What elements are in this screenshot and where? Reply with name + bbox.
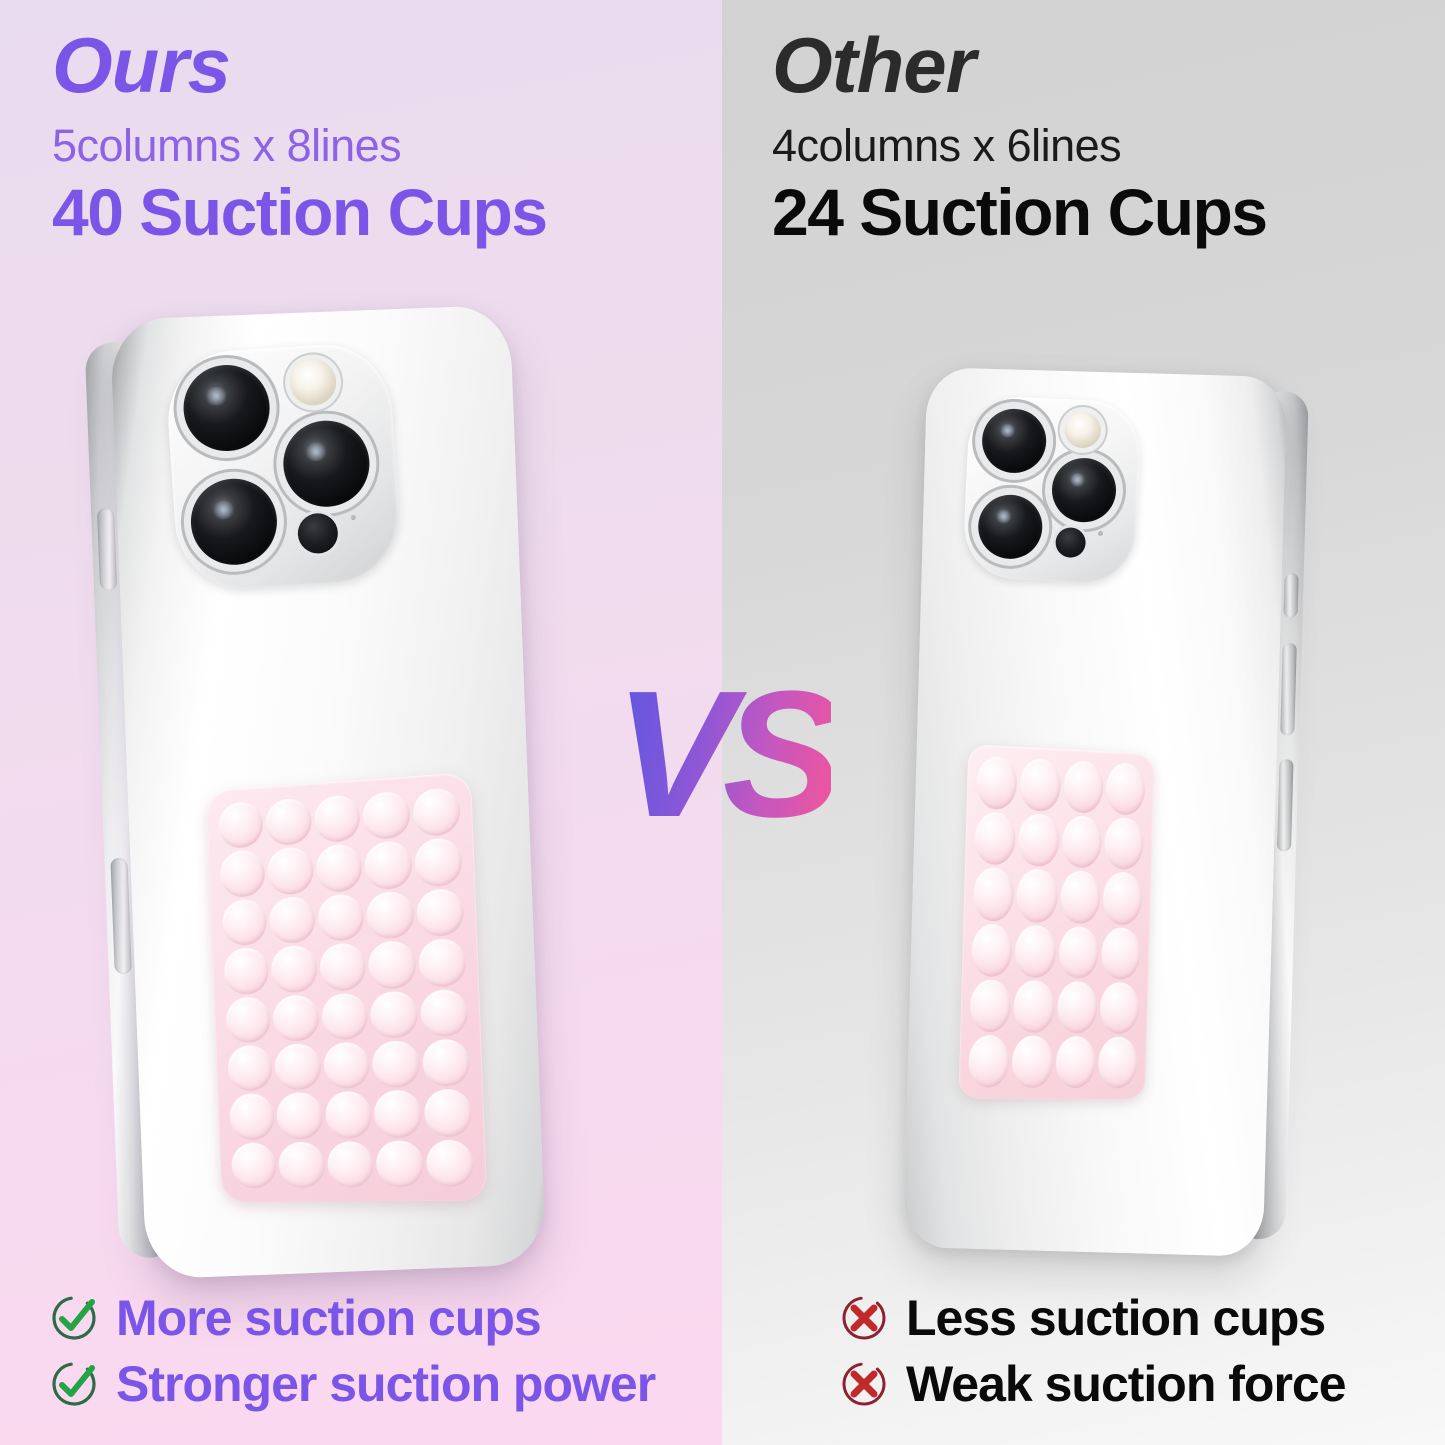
camera-lens-wide-icon [981, 407, 1048, 474]
suction-cup [421, 1039, 470, 1087]
suction-cup [313, 794, 361, 843]
suction-cup [412, 787, 461, 837]
camera-microphone-icon [1098, 531, 1103, 536]
suction-cup [227, 1045, 273, 1092]
ours-heading-group: Ours 5columns x 8lines 40 Suction Cups [52, 26, 547, 249]
suction-cup [1061, 815, 1102, 869]
suction-cup [1055, 1036, 1096, 1088]
suction-cup [414, 837, 463, 887]
suction-cup [1097, 1036, 1138, 1088]
other-drawback-list: Less suction cups Weak suction force [838, 1279, 1346, 1411]
camera-lens-telephoto-icon [281, 418, 372, 509]
list-item: Weak suction force [838, 1357, 1346, 1411]
other-title: Other [772, 26, 1267, 104]
suction-cup [971, 923, 1013, 977]
suction-cup [969, 979, 1011, 1032]
suction-cup [278, 1141, 325, 1188]
versus-badge: VS [614, 665, 830, 845]
phone-ours [110, 305, 547, 1280]
camera-lens-ultrawide-icon [188, 476, 279, 567]
list-item-label: Weak suction force [906, 1357, 1346, 1411]
ours-spec-line: 5columns x 8lines [52, 122, 547, 169]
suction-cup [265, 797, 312, 846]
suction-cup [327, 1141, 375, 1188]
suction-cup [364, 841, 412, 890]
camera-lens-wide-icon [181, 362, 272, 453]
other-spec-line: 4columns x 6lines [772, 122, 1267, 169]
suction-pad-ours [206, 772, 487, 1202]
phone-other [903, 367, 1287, 1257]
suction-cup [976, 756, 1018, 810]
suction-cup [368, 940, 416, 989]
list-item: Less suction cups [838, 1291, 1346, 1345]
phone-ours-camera-module [164, 340, 403, 592]
suction-cup [223, 947, 269, 995]
suction-cup [1056, 981, 1097, 1034]
suction-cup [1015, 924, 1057, 977]
suction-cup [1012, 1035, 1054, 1088]
suction-cup [271, 945, 318, 993]
phone-other-volume-down-button [1277, 759, 1294, 851]
suction-cup [220, 850, 266, 898]
comparison-board: Ours 5columns x 8lines 40 Suction Cups [0, 0, 1445, 1445]
ours-count-label: 40 Suction Cups [52, 177, 547, 248]
suction-cup [315, 844, 363, 893]
other-heading-group: Other 4columns x 6lines 24 Suction Cups [772, 26, 1267, 249]
suction-cup [231, 1142, 277, 1188]
phone-ours-body [110, 305, 547, 1280]
suction-cup [375, 1140, 423, 1187]
list-item-label: Less suction cups [906, 1291, 1325, 1345]
suction-cup [1058, 926, 1099, 979]
list-item: Stronger suction power [48, 1357, 655, 1411]
camera-lens-ultrawide-icon [977, 493, 1044, 560]
suction-cup [225, 996, 271, 1043]
ours-title: Ours [52, 26, 547, 104]
suction-cup [275, 1043, 322, 1090]
camera-lidar-icon [1055, 527, 1086, 558]
suction-cup [419, 988, 468, 1037]
suction-cup [374, 1090, 422, 1138]
suction-cup [273, 994, 320, 1042]
suction-cup [325, 1091, 373, 1138]
camera-lidar-icon [297, 512, 339, 554]
suction-cup [366, 890, 414, 939]
suction-cup [218, 801, 264, 850]
check-circle-icon [48, 1358, 100, 1410]
suction-cup [973, 867, 1015, 921]
suction-cup [370, 990, 418, 1038]
suction-cup [1016, 869, 1058, 923]
suction-cup [417, 938, 466, 987]
ours-benefit-list: More suction cups Stronger suction power [48, 1279, 655, 1411]
suction-cup [1018, 813, 1060, 867]
suction-cup [321, 992, 369, 1040]
suction-cup [276, 1092, 323, 1139]
suction-cup [1099, 982, 1140, 1034]
phone-other-volume-up-button [1280, 643, 1297, 735]
suction-cup [267, 847, 314, 896]
other-count-label: 24 Suction Cups [772, 177, 1267, 248]
suction-cup [229, 1093, 275, 1139]
suction-cup [222, 898, 268, 946]
list-item: More suction cups [48, 1291, 655, 1345]
suction-cup [1013, 980, 1055, 1033]
suction-cup [1104, 817, 1145, 870]
suction-cup [362, 791, 410, 841]
phone-other-action-button [1284, 573, 1299, 617]
suction-cup [269, 896, 316, 944]
suction-cup [1019, 758, 1061, 812]
suction-cup [1101, 927, 1142, 980]
camera-flash-icon [1064, 411, 1102, 449]
list-item-label: More suction cups [116, 1291, 541, 1345]
suction-cup [1062, 760, 1103, 814]
suction-cup [974, 812, 1016, 866]
phone-other-camera-module [962, 395, 1142, 585]
suction-cup [425, 1139, 474, 1187]
suction-cup [423, 1089, 472, 1137]
suction-cup [1102, 872, 1143, 925]
suction-cup [323, 1042, 371, 1090]
suction-cup [416, 888, 465, 937]
suction-cup [1105, 762, 1146, 816]
camera-lens-telephoto-icon [1051, 457, 1118, 524]
suction-cup [317, 893, 365, 942]
camera-microphone-icon [351, 515, 356, 520]
camera-flash-icon [289, 358, 338, 407]
cross-circle-icon [838, 1292, 890, 1344]
check-circle-icon [48, 1292, 100, 1344]
suction-pad-other [958, 744, 1154, 1099]
phone-ours-action-button [97, 508, 117, 590]
suction-cup [319, 943, 367, 991]
cross-circle-icon [838, 1358, 890, 1410]
list-item-label: Stronger suction power [116, 1357, 655, 1411]
suction-cup [968, 1035, 1010, 1088]
suction-cup [1059, 870, 1100, 923]
phone-other-body [903, 367, 1287, 1257]
suction-cup [372, 1040, 420, 1088]
